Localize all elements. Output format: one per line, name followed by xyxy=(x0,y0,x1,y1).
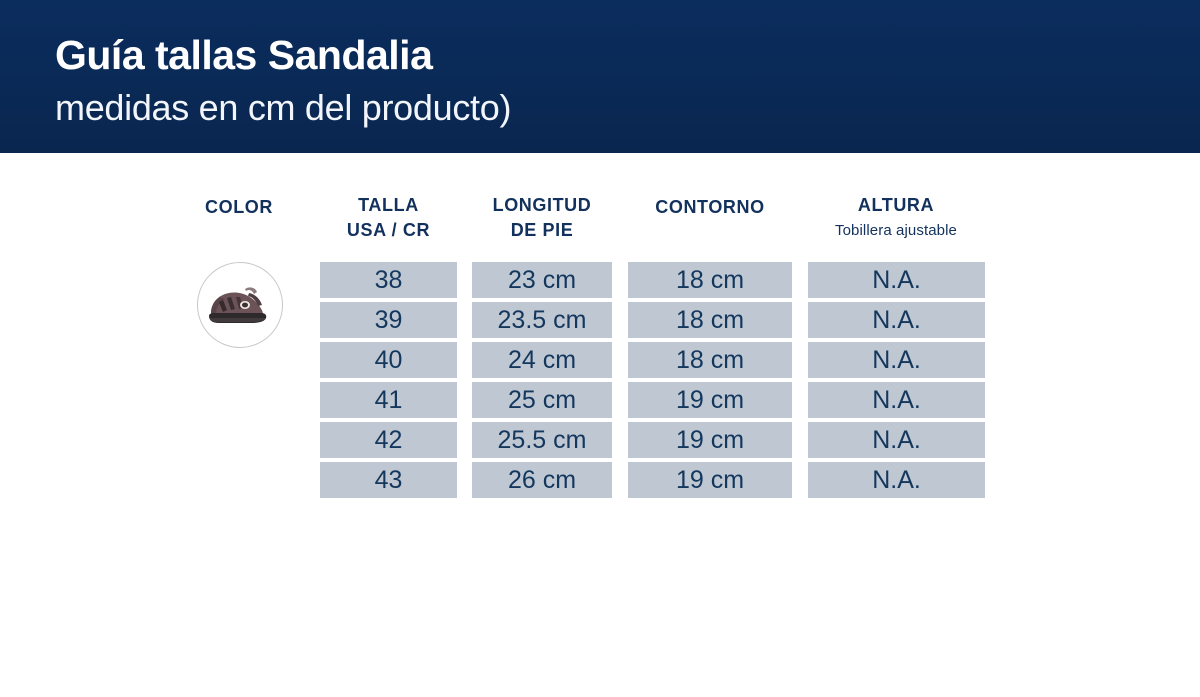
cell-altura: N.A. xyxy=(808,302,985,338)
cell-contorno: 18 cm xyxy=(628,342,792,378)
cell-talla: 41 xyxy=(320,382,457,418)
cell-contorno: 18 cm xyxy=(628,302,792,338)
cell-altura: N.A. xyxy=(808,342,985,378)
cell-altura: N.A. xyxy=(808,382,985,418)
cell-longitud: 25 cm xyxy=(472,382,612,418)
cell-longitud: 26 cm xyxy=(472,462,612,498)
cell-longitud: 23 cm xyxy=(472,262,612,298)
cell-talla: 42 xyxy=(320,422,457,458)
cell-longitud: 24 cm xyxy=(472,342,612,378)
cell-altura: N.A. xyxy=(808,422,985,458)
cell-contorno: 19 cm xyxy=(628,382,792,418)
cell-longitud: 25.5 cm xyxy=(472,422,612,458)
cell-talla: 43 xyxy=(320,462,457,498)
header-band: Guía tallas Sandalia medidas en cm del p… xyxy=(0,0,1200,153)
cell-talla: 39 xyxy=(320,302,457,338)
cell-contorno: 19 cm xyxy=(628,422,792,458)
size-guide-table: COLOR TALLA USA / CR LONGITUD DE PIE CON… xyxy=(0,153,1200,697)
cell-longitud: 23.5 cm xyxy=(472,302,612,338)
cell-talla: 40 xyxy=(320,342,457,378)
cell-talla: 38 xyxy=(320,262,457,298)
cell-altura: N.A. xyxy=(808,262,985,298)
size-rows: 38 23 cm 18 cm N.A. 39 23.5 cm 18 cm N.A… xyxy=(0,153,1200,697)
page-subtitle: medidas en cm del producto) xyxy=(55,87,511,129)
cell-contorno: 18 cm xyxy=(628,262,792,298)
page-title: Guía tallas Sandalia xyxy=(55,32,432,79)
cell-contorno: 19 cm xyxy=(628,462,792,498)
cell-altura: N.A. xyxy=(808,462,985,498)
